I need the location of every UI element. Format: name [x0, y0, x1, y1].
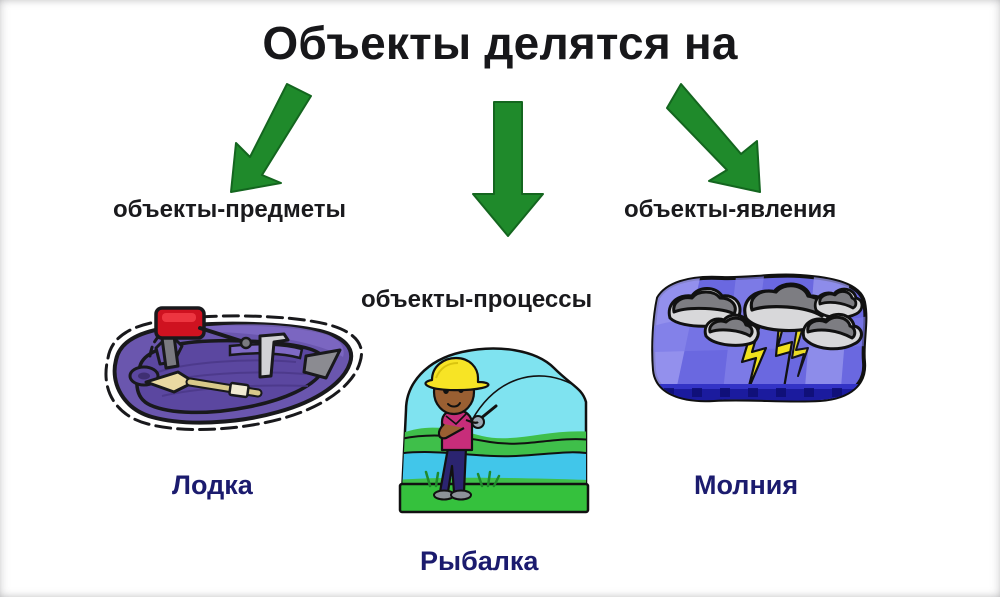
caption-fishing: Рыбалка: [420, 546, 538, 577]
inflatable-boat-illustration: [78, 300, 368, 438]
page-title: Объекты делятся на: [0, 16, 1000, 70]
arrow-down-right-icon: [665, 82, 780, 194]
arrow-down-left-icon: [215, 82, 325, 194]
branch-label-objects-processes: объекты-процессы: [361, 286, 592, 314]
branch-label-objects-things: объекты-предметы: [113, 196, 346, 224]
boy-fishing-illustration: [386, 344, 602, 530]
caption-boat: Лодка: [172, 470, 253, 501]
arrow-down-icon: [463, 98, 553, 240]
branch-label-objects-phenomena: объекты-явления: [624, 196, 836, 224]
slide-canvas: Объекты делятся на объекты-предметы объе…: [0, 0, 1000, 597]
thunderstorm-lightning-illustration: [644, 266, 876, 414]
caption-lightning: Молния: [694, 470, 798, 501]
